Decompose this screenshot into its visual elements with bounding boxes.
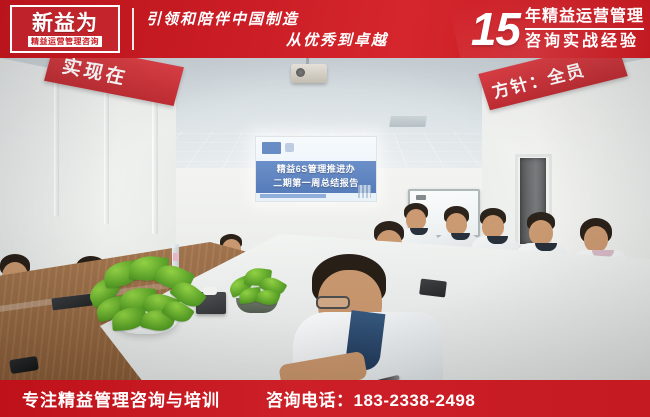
years-number: 15 bbox=[471, 6, 520, 52]
potted-plant-main bbox=[86, 254, 206, 318]
slogan-line-2: 从优秀到卓越 bbox=[146, 30, 396, 51]
years-line-1: 年精益运营管理 bbox=[525, 6, 644, 28]
projection-screen: 精益6S管理推进办 二期第一周总结报告 bbox=[255, 136, 377, 202]
ceiling-air-vent bbox=[389, 116, 427, 127]
years-badge: 15 年精益运营管理 咨询实战经验 bbox=[471, 2, 644, 56]
slide-qr-code-icon bbox=[358, 185, 371, 198]
slide-secondary-icon bbox=[285, 143, 294, 152]
wall-panel-edge-1 bbox=[54, 66, 59, 217]
logo-subtitle: 精益运营管理咨询 bbox=[28, 36, 102, 47]
meeting-room-photo: 实现在 方针：全员 精益6S管理推进办 二期第一周总结报告 bbox=[0, 58, 650, 380]
ceiling-projector bbox=[291, 64, 327, 83]
company-logo[interactable]: 新益为 精益运营管理咨询 bbox=[10, 5, 120, 53]
header-slogan: 引领和陪伴中国制造 从优秀到卓越 bbox=[146, 7, 396, 53]
footer-bar: 专注精益管理咨询与培训 咨询电话：183-2338-2498 bbox=[0, 380, 650, 417]
logo-divider bbox=[132, 8, 134, 50]
header-bar: 新益为 精益运营管理咨询 引领和陪伴中国制造 从优秀到卓越 15 年精益运营管理… bbox=[0, 0, 650, 58]
wall-panel-edge-3 bbox=[152, 84, 158, 235]
years-line-2: 咨询实战经验 bbox=[525, 30, 644, 52]
slogan-line-1: 引领和陪伴中国制造 bbox=[146, 9, 396, 30]
promo-banner-page: 新益为 精益运营管理咨询 引领和陪伴中国制造 从优秀到卓越 15 年精益运营管理… bbox=[0, 0, 650, 417]
years-text-block: 年精益运营管理 咨询实战经验 bbox=[525, 6, 644, 52]
wall-panel-edge-2 bbox=[104, 74, 109, 225]
presentation-slide: 精益6S管理推进办 二期第一周总结报告 bbox=[256, 137, 376, 201]
footer-tagline: 专注精益管理咨询与培训 bbox=[22, 386, 220, 411]
footer-phone[interactable]: 咨询电话：183-2338-2498 bbox=[266, 386, 475, 411]
eyeglasses-icon bbox=[316, 296, 350, 309]
slide-logo-icon bbox=[262, 142, 281, 154]
slide-accent-strip bbox=[260, 194, 326, 198]
slide-title-line-1: 精益6S管理推进办 bbox=[256, 163, 376, 176]
potted-plant-secondary bbox=[225, 258, 295, 308]
foreground-participant bbox=[288, 254, 468, 380]
logo-company-name: 新益为 bbox=[32, 13, 98, 34]
